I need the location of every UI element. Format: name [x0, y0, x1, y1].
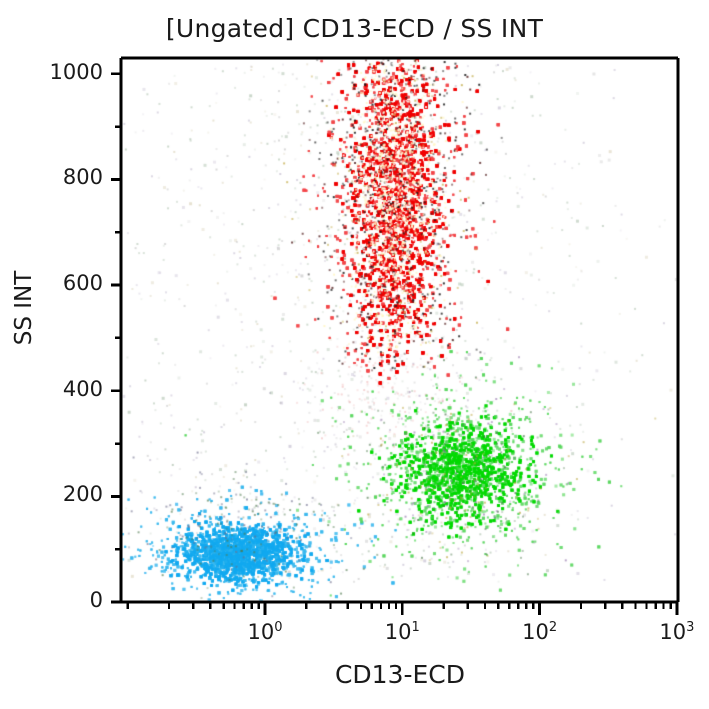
x-axis-title: CD13-ECD	[121, 660, 679, 689]
y-axis-title: SS INT	[11, 248, 37, 368]
x-axis-ticks	[128, 602, 677, 615]
plot-frame	[121, 58, 678, 602]
y-tick-label: 400	[11, 377, 103, 401]
x-tick-label: 101	[357, 620, 447, 644]
y-axis-ticks	[111, 74, 121, 602]
plot-axes	[0, 0, 709, 709]
x-tick-label: 102	[495, 620, 585, 644]
x-tick-label: 100	[220, 620, 310, 644]
x-tick-label: 103	[632, 620, 709, 644]
y-tick-label: 200	[11, 482, 103, 506]
y-tick-label: 0	[11, 588, 103, 612]
y-tick-label: 1000	[11, 60, 103, 84]
flow-cytometry-dot-plot: [Ungated] CD13-ECD / SS INT 020040060080…	[0, 0, 709, 709]
y-tick-label: 800	[11, 165, 103, 189]
